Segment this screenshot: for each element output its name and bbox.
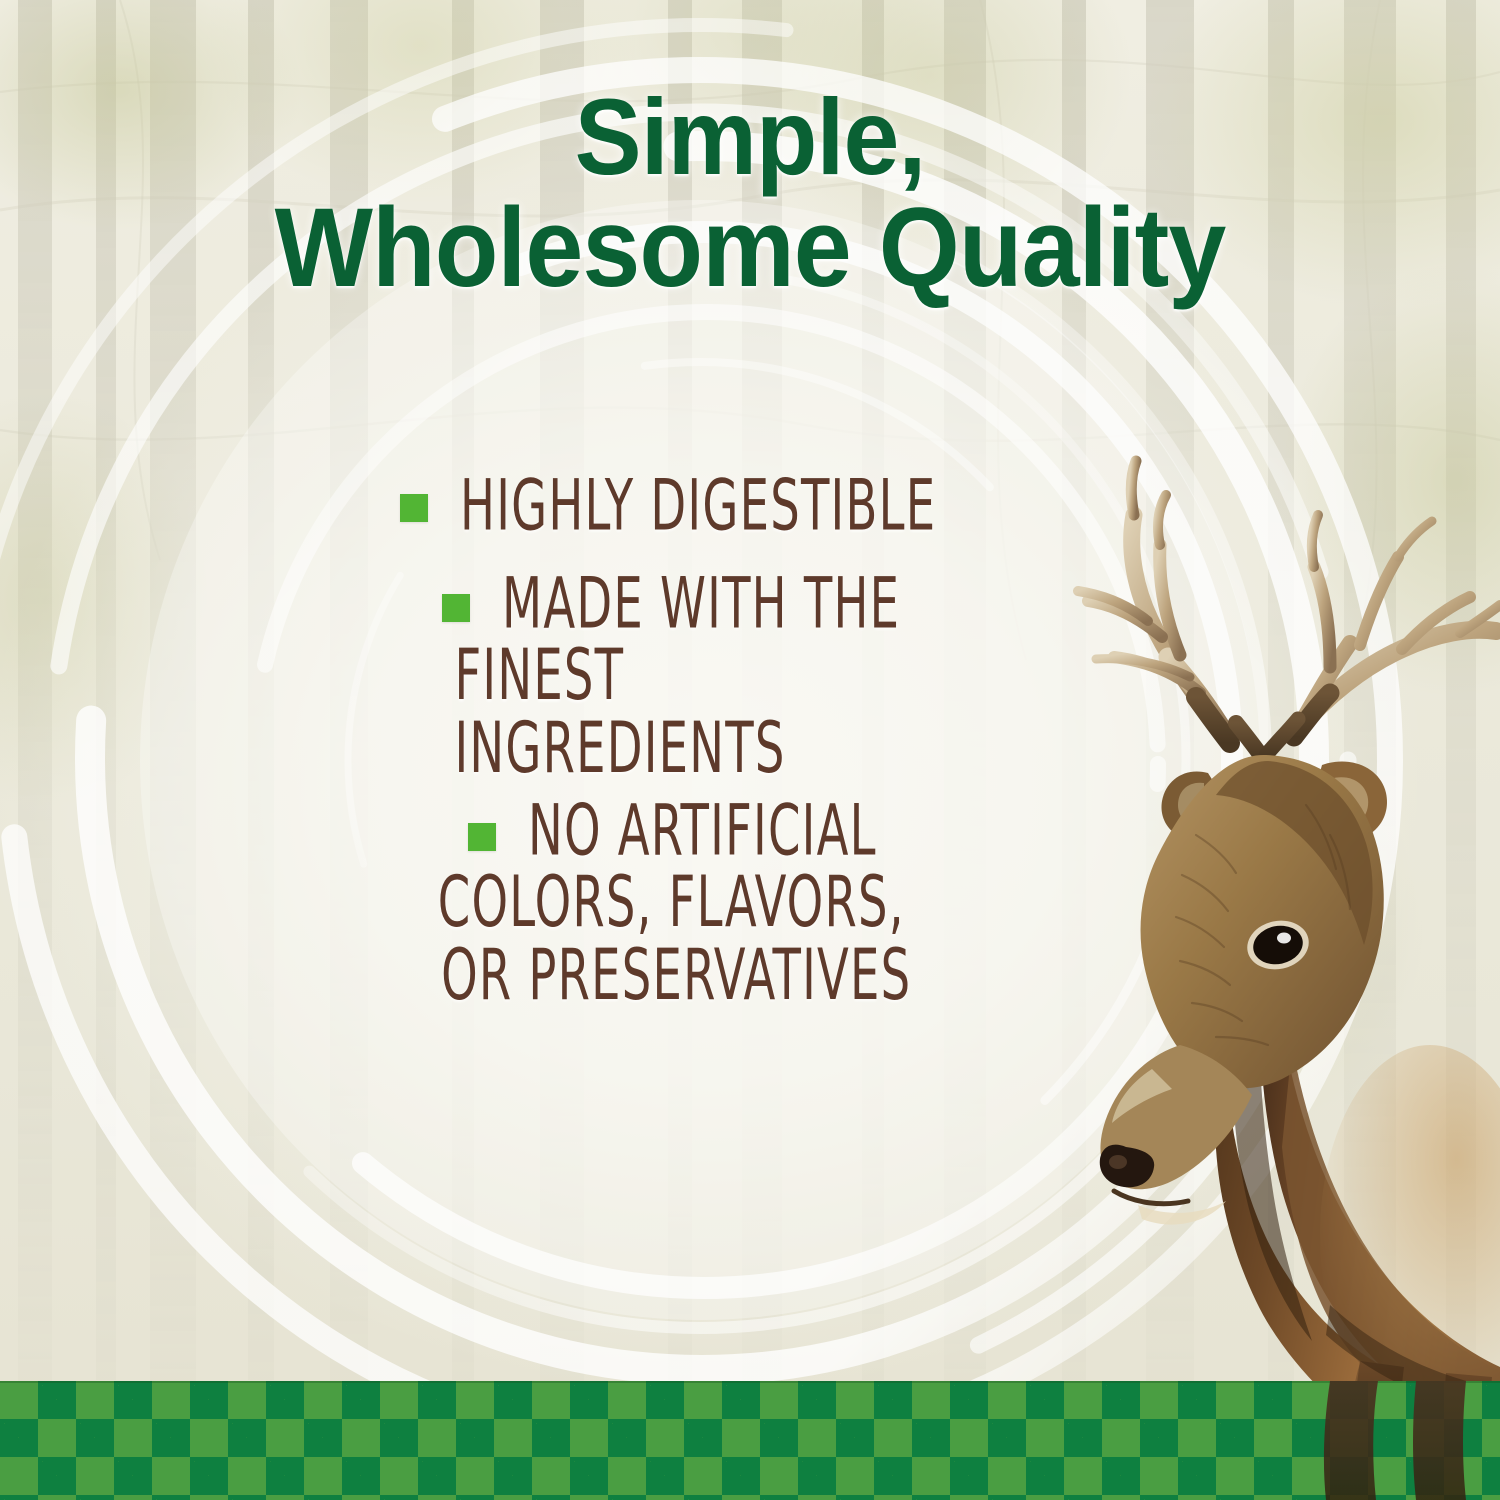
feature-line: MADE WITH THE xyxy=(502,563,900,645)
feature-line: FINEST INGREDIENTS xyxy=(454,640,953,784)
feature-line: HIGHLY DIGESTIBLE xyxy=(460,464,936,546)
deer-stag-image xyxy=(1030,405,1500,1500)
feature-bullet-list: HIGHLY DIGESTIBLE MADE WITH THE FINEST I… xyxy=(392,470,1052,988)
feature-line: NO ARTIFICIAL xyxy=(528,789,877,871)
bullet-square-icon xyxy=(468,823,496,851)
list-item: NO ARTIFICIAL COLORS, FLAVORS, OR PRESER… xyxy=(392,795,1052,988)
bullet-square-icon xyxy=(400,494,428,522)
checkerboard-footer-band xyxy=(0,1381,1500,1500)
feature-line: COLORS, FLAVORS, xyxy=(438,867,958,939)
feature-text-no-artificial: NO ARTIFICIAL COLORS, FLAVORS, OR PRESER… xyxy=(528,795,958,1011)
feature-text-highly-digestible: HIGHLY DIGESTIBLE xyxy=(460,470,945,542)
bullet-square-icon xyxy=(442,594,470,622)
list-item: MADE WITH THE FINEST INGREDIENTS xyxy=(392,568,1052,761)
feature-line: OR PRESERVATIVES xyxy=(441,939,958,1011)
list-item: HIGHLY DIGESTIBLE xyxy=(392,470,1052,534)
footer-top-edge xyxy=(0,1381,1500,1383)
feature-text-finest-ingredients: MADE WITH THE FINEST INGREDIENTS xyxy=(502,568,953,784)
product-feature-banner: Simple, Wholesome Quality HIGHLY DIGESTI… xyxy=(0,0,1500,1500)
